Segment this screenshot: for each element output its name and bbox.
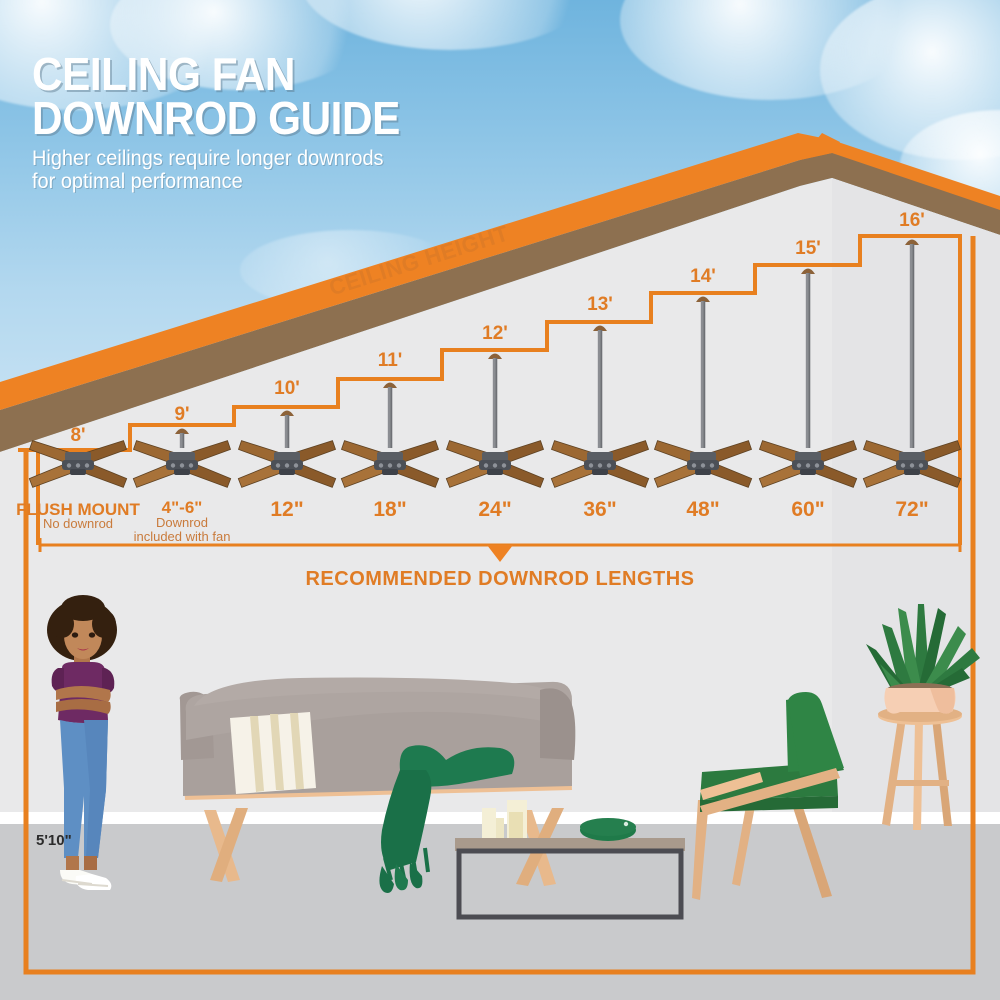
downrod-length-label-c15: 60" <box>791 498 824 522</box>
fan-blade-bracket <box>701 463 705 467</box>
ceiling-height-label-c9: 9' <box>174 404 189 426</box>
fan-blade-bracket <box>180 463 184 467</box>
fan-assembly-c15 <box>759 269 856 488</box>
downrod-shadow <box>704 301 706 448</box>
downrod-length-label-c16: 72" <box>895 498 928 522</box>
fan-blade-bracket <box>171 463 175 467</box>
fan-blade-bracket <box>276 463 280 467</box>
downrod-length-label-c11: 18" <box>373 498 406 522</box>
page-title-line1: CEILING FAN <box>32 52 510 96</box>
fan-motor-top <box>169 452 195 461</box>
fan-blade-bracket <box>589 463 593 467</box>
downrod-shadow <box>496 358 498 448</box>
fan-blade-bracket <box>484 463 488 467</box>
fan-blade-bracket <box>901 463 905 467</box>
ceiling-height-label-c15: 15' <box>795 238 821 260</box>
fan-assembly-c9 <box>133 429 230 488</box>
downrod-shadow <box>288 415 290 448</box>
fan-switch-housing <box>904 469 920 475</box>
page-subtitle-line1: Higher ceilings require longer downrods <box>32 147 526 170</box>
fan-assembly-c11 <box>341 383 438 488</box>
recommended-downrod-lengths-label: RECOMMENDED DOWNROD LENGTHS <box>305 568 694 591</box>
downrod-length-label-c14: 48" <box>686 498 719 522</box>
fan-assembly-c16 <box>863 240 960 488</box>
fan-blade-bracket <box>598 463 602 467</box>
fan-blade-bracket <box>85 463 89 467</box>
fan-assembly-c13 <box>551 326 648 488</box>
fan-switch-housing <box>695 469 711 475</box>
fan-motor-top <box>482 452 508 461</box>
ceiling-height-label-c13: 13' <box>587 294 613 316</box>
fan-motor-top <box>377 452 403 461</box>
fan-blade-bracket <box>710 463 714 467</box>
page-subtitle-line2: for optimal performance <box>32 170 526 193</box>
page-title-line2: DOWNROD GUIDE <box>32 96 510 140</box>
fan-motor-top <box>899 452 925 461</box>
fan-blade-bracket <box>815 463 819 467</box>
downrod-shadow <box>809 273 811 448</box>
fan-blade-bracket <box>502 463 506 467</box>
fan-blade-bracket <box>806 463 810 467</box>
fan-motor-top <box>65 452 91 461</box>
fan-motor-top <box>587 452 613 461</box>
fan-switch-housing <box>592 469 608 475</box>
downrod-note-c9: Downrodincluded with fan <box>122 516 242 544</box>
fan-blade-bracket <box>910 463 914 467</box>
fan-blade-bracket <box>607 463 611 467</box>
fan-blade-bracket <box>797 463 801 467</box>
fan-assembly-c10 <box>238 411 335 488</box>
fan-motor-top <box>690 452 716 461</box>
fan-switch-housing <box>174 469 190 475</box>
fan-blade-bracket <box>67 463 71 467</box>
title-block: CEILING FAN DOWNROD GUIDE Higher ceiling… <box>32 52 552 193</box>
person-height-label: 5'10" <box>36 832 72 849</box>
fan-blade-bracket <box>379 463 383 467</box>
fan-motor-top <box>274 452 300 461</box>
ceiling-height-label-c16: 16' <box>899 210 925 232</box>
fan-blade-bracket <box>76 463 80 467</box>
fan-assembly-c8 <box>29 441 126 488</box>
ceiling-height-label-c12: 12' <box>482 323 508 345</box>
fan-blade-bracket <box>397 463 401 467</box>
fan-blade-bracket <box>388 463 392 467</box>
infographic-canvas: CEILING FAN DOWNROD GUIDE Higher ceiling… <box>0 0 1000 1000</box>
fan-blade-bracket <box>919 463 923 467</box>
downrod-length-label-c10: 12" <box>270 498 303 522</box>
fan-switch-housing <box>487 469 503 475</box>
fan-switch-housing <box>279 469 295 475</box>
fan-switch-housing <box>800 469 816 475</box>
fan-blade-bracket <box>285 463 289 467</box>
fan-blade-bracket <box>189 463 193 467</box>
fan-blade-bracket <box>294 463 298 467</box>
fan-assembly-c14 <box>654 297 751 488</box>
ceiling-height-label-c10: 10' <box>274 378 300 400</box>
ceiling-height-label-c14: 14' <box>690 266 716 288</box>
fan-blade-bracket <box>493 463 497 467</box>
downrod-shadow <box>913 244 915 448</box>
fan-blade-bracket <box>692 463 696 467</box>
fan-assembly-c12 <box>446 354 543 488</box>
fan-switch-housing <box>382 469 398 475</box>
downrod-shadow <box>391 387 393 448</box>
downrod-shadow <box>183 433 185 448</box>
downrod-shadow <box>601 330 603 448</box>
fan-motor-top <box>795 452 821 461</box>
ceiling-height-label-c8: 8' <box>70 425 85 447</box>
downrod-length-label-c13: 36" <box>583 498 616 522</box>
fan-switch-housing <box>70 469 86 475</box>
downrod-length-label-c12: 24" <box>478 498 511 522</box>
ceiling-height-label-c11: 11' <box>378 350 403 372</box>
downrod-note-c8: No downrod <box>18 517 138 531</box>
